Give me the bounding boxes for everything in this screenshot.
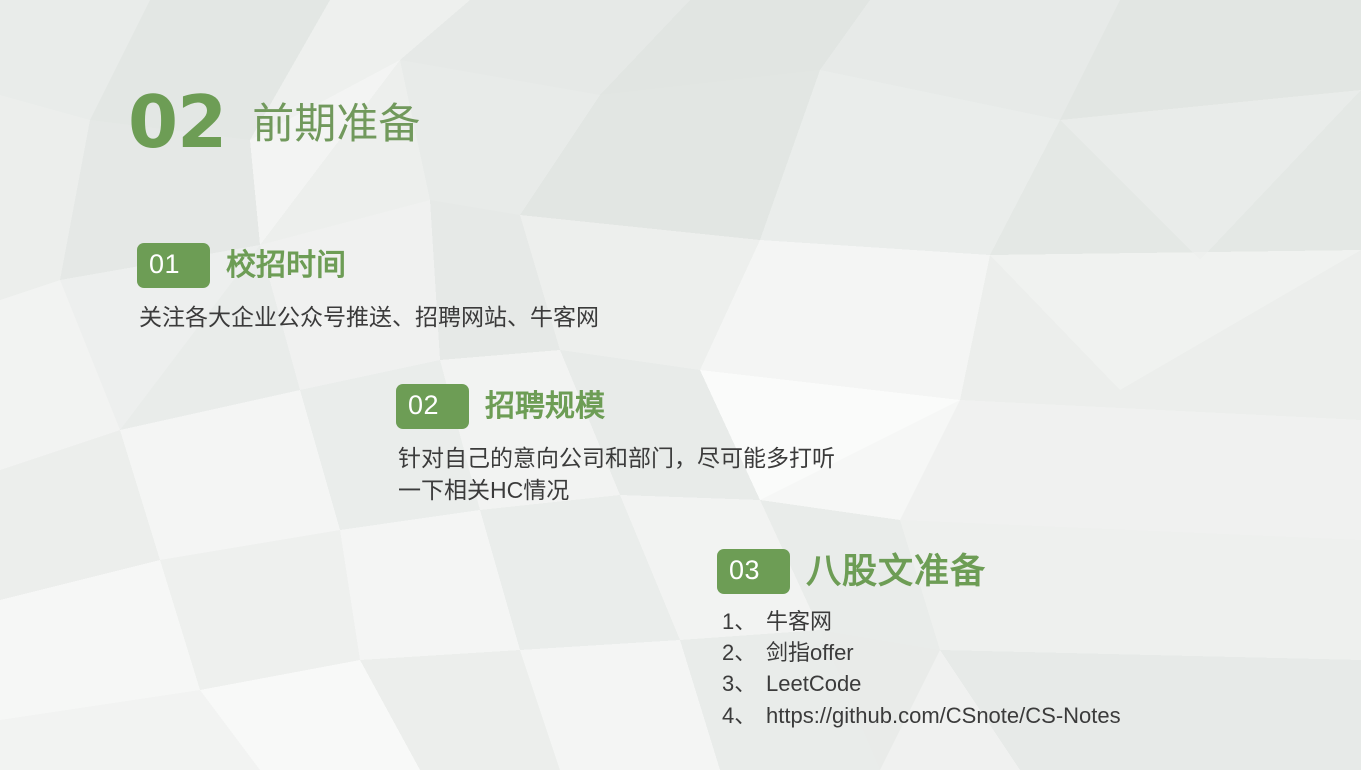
list-item: 3、 LeetCode xyxy=(722,668,1121,699)
section-title-03: 八股文准备 xyxy=(806,554,986,589)
list-item: 4、 https://github.com/CSnote/CS-Notes xyxy=(722,700,1121,731)
list-item-text: 剑指offer xyxy=(766,637,854,668)
list-item-text: LeetCode xyxy=(766,668,861,699)
section-body-01: 关注各大企业公众号推送、招聘网站、牛客网 xyxy=(139,302,599,334)
section-header-03: 03 八股文准备 xyxy=(717,549,1121,594)
section-badge-01: 01 xyxy=(137,243,210,288)
list-item-marker: 4、 xyxy=(722,700,766,731)
list-item-text: https://github.com/CSnote/CS-Notes xyxy=(766,700,1121,731)
section-list-03: 1、 牛客网 2、 剑指offer 3、 LeetCode 4、 https:/… xyxy=(722,606,1121,731)
section-title-01: 校招时间 xyxy=(226,251,346,281)
main-title-number: 02 xyxy=(128,86,226,158)
section-header-02: 02 招聘规模 xyxy=(396,384,835,429)
list-item-marker: 3、 xyxy=(722,668,766,699)
section-body-line: 关注各大企业公众号推送、招聘网站、牛客网 xyxy=(139,302,599,334)
section-badge-03: 03 xyxy=(717,549,790,594)
section-header-01: 01 校招时间 xyxy=(137,243,599,288)
section-title-02: 招聘规模 xyxy=(485,392,605,422)
section-block-01: 01 校招时间 关注各大企业公众号推送、招聘网站、牛客网 xyxy=(137,243,599,334)
section-body-line: 一下相关HC情况 xyxy=(398,475,835,507)
slide-main-title: 02 前期准备 xyxy=(128,86,420,158)
section-badge-02: 02 xyxy=(396,384,469,429)
main-title-text: 前期准备 xyxy=(252,103,420,145)
list-item-text: 牛客网 xyxy=(766,606,832,637)
section-body-line: 针对自己的意向公司和部门，尽可能多打听 xyxy=(398,443,835,475)
list-item: 2、 剑指offer xyxy=(722,637,1121,668)
presentation-slide: 02 前期准备 01 校招时间 关注各大企业公众号推送、招聘网站、牛客网 02 … xyxy=(0,0,1361,770)
list-item-marker: 2、 xyxy=(722,637,766,668)
section-block-02: 02 招聘规模 针对自己的意向公司和部门，尽可能多打听 一下相关HC情况 xyxy=(396,384,835,506)
list-item: 1、 牛客网 xyxy=(722,606,1121,637)
list-item-marker: 1、 xyxy=(722,606,766,637)
section-block-03: 03 八股文准备 1、 牛客网 2、 剑指offer 3、 LeetCode 4… xyxy=(717,549,1121,731)
section-body-02: 针对自己的意向公司和部门，尽可能多打听 一下相关HC情况 xyxy=(398,443,835,506)
